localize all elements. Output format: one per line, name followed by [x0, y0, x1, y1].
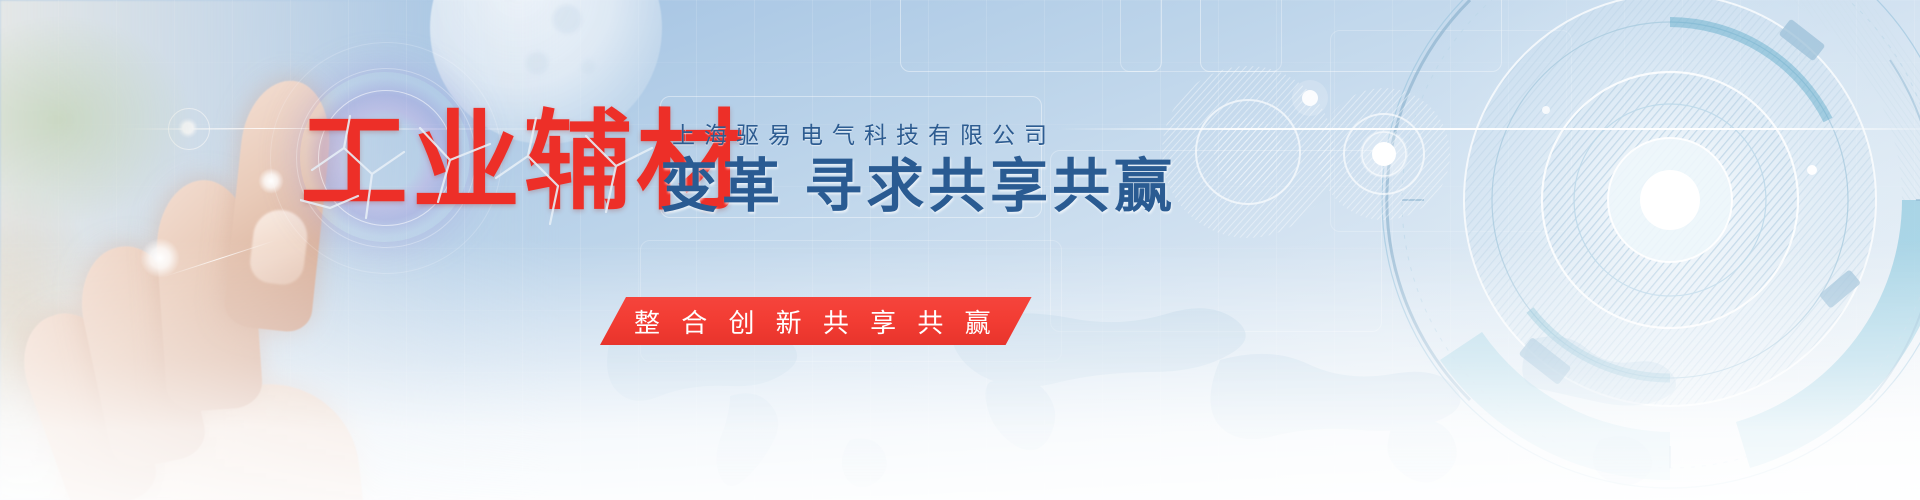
hero-banner: 工业辅材 上海驱易电气科技有限公司 变革 寻求共享共赢 整 合 创 新 共 享 …: [0, 0, 1920, 500]
banner-slogan-ribbon: 整 合 创 新 共 享 共 赢: [600, 297, 1032, 345]
title-crackle-overlay: [300, 108, 680, 228]
banner-sub-title: 变革 寻求共享共赢: [660, 158, 1176, 216]
banner-text-block: 工业辅材 上海驱易电气科技有限公司 变革 寻求共享共赢 整 合 创 新 共 享 …: [0, 0, 1920, 500]
banner-slogan-text: 整 合 创 新 共 享 共 赢: [634, 303, 998, 340]
banner-company-name: 上海驱易电气科技有限公司: [672, 116, 1056, 150]
